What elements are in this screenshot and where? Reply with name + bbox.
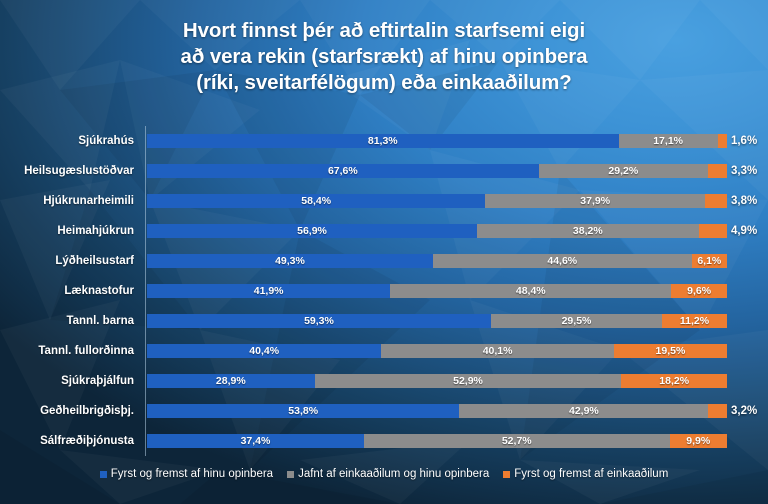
bar-value-label: 4,9%: [731, 224, 757, 238]
chart-title: Hvort finnst þér að eftirtalin starfsemi…: [0, 18, 768, 96]
chart-title-line-3: (ríki, sveitarfélögum) eða einkaaðilum?: [0, 70, 768, 96]
bar-value-label: 11,2%: [680, 314, 709, 328]
bar-segment: 29,2%: [539, 164, 708, 178]
bar-value-label: 29,5%: [562, 314, 592, 328]
bar-segment: 28,9%: [147, 374, 315, 388]
bar-value-label: 81,3%: [368, 134, 398, 148]
bar-segment: 42,9%: [459, 404, 708, 418]
category-label: Sálfræðiþjónusta: [0, 435, 140, 447]
category-label: Hjúkrunarheimili: [0, 195, 140, 207]
chart-row: Geðheilbrigðisþj.53,8%42,9%3,2%: [0, 396, 768, 426]
category-label: Sjúkraþjálfun: [0, 375, 140, 387]
bar-segment: 9,6%: [671, 284, 727, 298]
bar-value-label: 3,2%: [731, 404, 757, 418]
bar-value-label: 18,2%: [659, 374, 689, 388]
legend-swatch-icon: [503, 471, 510, 478]
bar-segment: 81,3%: [147, 134, 619, 148]
bar-value-label: 38,2%: [573, 224, 603, 238]
bar-segment: 58,4%: [147, 194, 485, 208]
bar-segment: 40,4%: [147, 344, 381, 358]
bar-segment: 38,2%: [477, 224, 699, 238]
bar-value-label: 41,9%: [254, 284, 284, 298]
bar-value-label: 44,6%: [547, 254, 577, 268]
bar-segment: 44,6%: [433, 254, 692, 268]
category-label: Heimahjúkrun: [0, 225, 140, 237]
stacked-bar: 49,3%44,6%6,1%: [147, 254, 727, 268]
bar-value-label: 19,5%: [656, 344, 686, 358]
bar-value-label: 48,4%: [516, 284, 546, 298]
category-label: Heilsugæslustöðvar: [0, 165, 140, 177]
chart-row: Læknastofur41,9%48,4%9,6%: [0, 276, 768, 306]
bar-value-label: 67,6%: [328, 164, 358, 178]
bar-value-label: 1,6%: [731, 134, 757, 148]
stacked-bar: 53,8%42,9%3,2%: [147, 404, 727, 418]
bar-value-label: 29,2%: [608, 164, 638, 178]
bar-value-label: 9,9%: [686, 434, 710, 448]
bar-value-label: 49,3%: [275, 254, 305, 268]
legend-label: Jafnt af einkaaðilum og hinu opinbera: [298, 468, 489, 480]
chart-title-line-1: Hvort finnst þér að eftirtalin starfsemi…: [0, 18, 768, 44]
chart-row: Sálfræðiþjónusta37,4%52,7%9,9%: [0, 426, 768, 456]
bar-segment: 67,6%: [147, 164, 539, 178]
bar-segment: 37,9%: [485, 194, 705, 208]
bar-segment: 29,5%: [491, 314, 662, 328]
category-label: Sjúkrahús: [0, 135, 140, 147]
stacked-bar: 58,4%37,9%3,8%: [147, 194, 727, 208]
chart-row: Sjúkraþjálfun28,9%52,9%18,2%: [0, 366, 768, 396]
stacked-bar: 67,6%29,2%3,3%: [147, 164, 727, 178]
chart-row: Tannl. fullorðinna40,4%40,1%19,5%: [0, 336, 768, 366]
bar-segment: 4,9%: [699, 224, 727, 238]
category-label: Geðheilbrigðisþj.: [0, 405, 140, 417]
stacked-bar: 37,4%52,7%9,9%: [147, 434, 727, 448]
bar-segment: 37,4%: [147, 434, 364, 448]
bar-segment: 3,2%: [708, 404, 727, 418]
bar-segment: 56,9%: [147, 224, 477, 238]
chart-row: Heimahjúkrun56,9%38,2%4,9%: [0, 216, 768, 246]
bar-segment: 53,8%: [147, 404, 459, 418]
bar-segment: 17,1%: [619, 134, 718, 148]
bar-segment: 11,2%: [662, 314, 727, 328]
chart-title-line-2: að vera rekin (starfsrækt) af hinu opinb…: [0, 44, 768, 70]
category-label: Lýðheilsustarf: [0, 255, 140, 267]
bar-value-label: 17,1%: [653, 134, 683, 148]
chart-row: Hjúkrunarheimili58,4%37,9%3,8%: [0, 186, 768, 216]
bar-segment: 19,5%: [614, 344, 727, 358]
chart-row: Sjúkrahús81,3%17,1%1,6%: [0, 126, 768, 156]
bar-segment: 48,4%: [390, 284, 671, 298]
bar-rows: Sjúkrahús81,3%17,1%1,6%Heilsugæslustöðva…: [0, 126, 768, 456]
bar-value-label: 3,3%: [731, 164, 757, 178]
bar-value-label: 42,9%: [569, 404, 599, 418]
bar-value-label: 59,3%: [304, 314, 334, 328]
bar-value-label: 37,4%: [241, 434, 271, 448]
category-label: Tannl. fullorðinna: [0, 345, 140, 357]
bar-value-label: 6,1%: [697, 254, 721, 268]
bar-segment: 9,9%: [670, 434, 727, 448]
bar-value-label: 53,8%: [288, 404, 318, 418]
legend-label: Fyrst og fremst af hinu opinbera: [111, 468, 273, 480]
stacked-bar: 81,3%17,1%1,6%: [147, 134, 727, 148]
category-label: Læknastofur: [0, 285, 140, 297]
bar-segment: 52,7%: [364, 434, 670, 448]
bar-value-label: 52,9%: [453, 374, 483, 388]
legend-label: Fyrst og fremst af einkaaðilum: [514, 468, 668, 480]
bar-value-label: 9,6%: [687, 284, 711, 298]
bar-segment: 3,3%: [708, 164, 727, 178]
stacked-bar: 28,9%52,9%18,2%: [147, 374, 727, 388]
bar-segment: 52,9%: [315, 374, 622, 388]
stacked-bar: 41,9%48,4%9,6%: [147, 284, 727, 298]
stacked-bar: 59,3%29,5%11,2%: [147, 314, 727, 328]
bar-value-label: 56,9%: [297, 224, 327, 238]
legend-swatch-icon: [100, 471, 107, 478]
legend-item[interactable]: Jafnt af einkaaðilum og hinu opinbera: [287, 468, 489, 480]
bar-value-label: 58,4%: [301, 194, 331, 208]
legend-item[interactable]: Fyrst og fremst af hinu opinbera: [100, 468, 273, 480]
category-label: Tannl. barna: [0, 315, 140, 327]
bar-value-label: 40,4%: [249, 344, 279, 358]
bar-segment: 18,2%: [621, 374, 727, 388]
plot-area: Sjúkrahús81,3%17,1%1,6%Heilsugæslustöðva…: [0, 126, 768, 456]
legend-swatch-icon: [287, 471, 294, 478]
bar-value-label: 52,7%: [502, 434, 532, 448]
chart-legend: Fyrst og fremst af hinu opinberaJafnt af…: [0, 468, 768, 480]
bar-segment: 6,1%: [692, 254, 727, 268]
bar-segment: 40,1%: [381, 344, 614, 358]
bar-segment: 3,8%: [705, 194, 727, 208]
bar-segment: 1,6%: [718, 134, 727, 148]
chart-row: Lýðheilsustarf49,3%44,6%6,1%: [0, 246, 768, 276]
bar-value-label: 28,9%: [216, 374, 246, 388]
stacked-bar: 40,4%40,1%19,5%: [147, 344, 727, 358]
bar-segment: 41,9%: [147, 284, 390, 298]
bar-value-label: 40,1%: [483, 344, 513, 358]
bar-segment: 59,3%: [147, 314, 491, 328]
bar-value-label: 37,9%: [580, 194, 610, 208]
chart-row: Tannl. barna59,3%29,5%11,2%: [0, 306, 768, 336]
bar-value-label: 3,8%: [731, 194, 757, 208]
stacked-bar: 56,9%38,2%4,9%: [147, 224, 727, 238]
bar-segment: 49,3%: [147, 254, 433, 268]
chart-row: Heilsugæslustöðvar67,6%29,2%3,3%: [0, 156, 768, 186]
legend-item[interactable]: Fyrst og fremst af einkaaðilum: [503, 468, 668, 480]
